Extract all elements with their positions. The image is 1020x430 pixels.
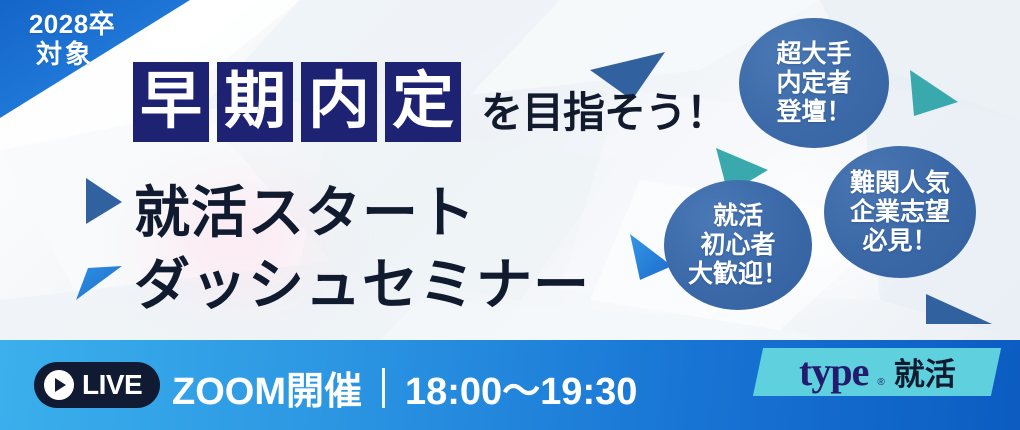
badge-1-line-1: 超大手 xyxy=(776,40,851,69)
logo-registered-mark: ® xyxy=(877,377,884,388)
headline-box-2: 期 xyxy=(217,62,293,142)
headline-tail: を目指そう！ xyxy=(481,79,727,142)
badge-3-line-2: 初心者 xyxy=(688,231,788,260)
event-details: ZOOM開催 18:00〜19:30 xyxy=(172,360,637,415)
badge-3-line-1: 就活 xyxy=(688,202,788,231)
badge-2-line-2: 企業志望 xyxy=(850,198,950,227)
ribbon-target-label: 対象 xyxy=(6,40,124,69)
badge-top-companies: 難関人気 企業志望 必見！ xyxy=(824,146,976,278)
type-shukatsu-logo: type ® 就活 xyxy=(753,348,1001,396)
triangle-accent-top-right xyxy=(900,60,970,120)
headline-box-1: 早 xyxy=(133,62,209,142)
triangle-accent-left-upper xyxy=(78,172,134,232)
badge-1-line-2: 内定者 xyxy=(776,69,851,98)
triangle-accent-left-lower xyxy=(70,260,130,308)
headline-box-4: 定 xyxy=(385,62,461,142)
live-label: LIVE xyxy=(82,369,142,401)
badge-2-line-3: 必見！ xyxy=(850,227,950,256)
logo-suffix-text: 就活 xyxy=(893,359,955,390)
badge-3-line-3: 大歓迎！ xyxy=(688,260,788,289)
logo-inner: type ® 就活 xyxy=(799,352,956,392)
badge-1-line-3: 登壇！ xyxy=(776,98,851,127)
subtitle-line-1: 就活スタート xyxy=(134,168,476,249)
logo-brand-text: type xyxy=(799,352,868,392)
play-circle-icon xyxy=(44,370,74,400)
detail-separator xyxy=(382,368,385,408)
ribbon-year-label: 2028卒 xyxy=(6,10,138,39)
triangle-accent-bottom-right xyxy=(920,288,1000,330)
subtitle-line-2: ダッシュセミナー xyxy=(134,240,590,321)
seminar-banner: 2028卒 対象 早 期 内 定 を目指そう！ 就活スタート ダッシュセミナー … xyxy=(0,0,1020,430)
event-time: 18:00〜19:30 xyxy=(405,360,637,415)
badge-beginners-welcome: 就活 初心者 大歓迎！ xyxy=(664,180,812,310)
platform-label: ZOOM開催 xyxy=(172,360,362,415)
live-badge: LIVE xyxy=(34,362,160,408)
badge-2-line-1: 難関人気 xyxy=(850,169,950,198)
headline: 早 期 内 定 を目指そう！ xyxy=(133,62,727,142)
badge-featured-speaker: 超大手 内定者 登壇！ xyxy=(739,18,889,148)
headline-box-3: 内 xyxy=(301,62,377,142)
